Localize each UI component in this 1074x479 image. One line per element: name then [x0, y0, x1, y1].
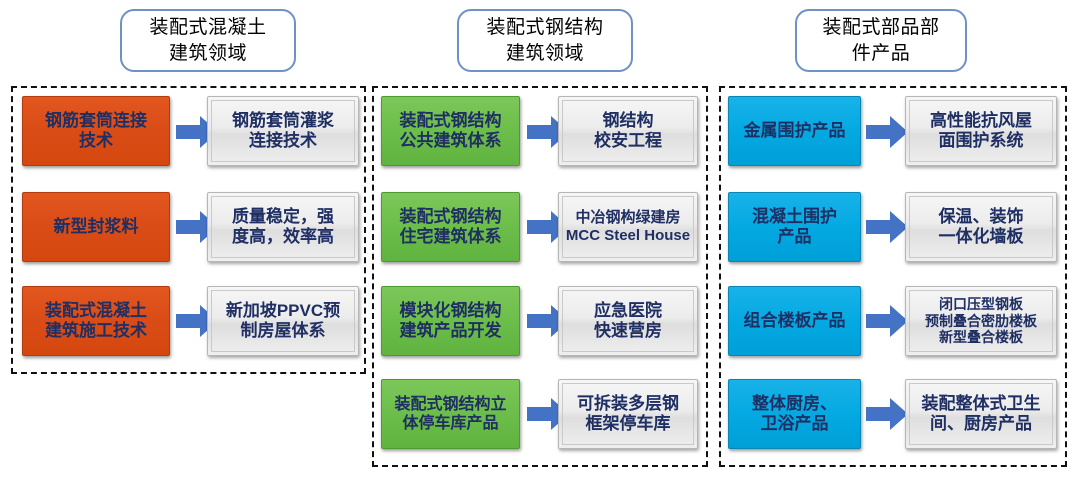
target-node-c3r3[interactable]: 闭口压型钢板 预制叠合密肋楼板 新型叠合楼板 — [905, 286, 1057, 356]
source-node-c3r2[interactable]: 混凝土围护 产品 — [728, 192, 861, 262]
source-node-c3r1[interactable]: 金属围护产品 — [728, 96, 861, 166]
node-line: 卫浴产品 — [761, 414, 829, 434]
node-line: 保温、装饰 — [939, 207, 1024, 227]
node-line: 装配式钢结构 — [400, 111, 502, 131]
node-line: 组合楼板产品 — [744, 311, 846, 331]
target-node-c3r2[interactable]: 保温、装饰 一体化墙板 — [905, 192, 1057, 262]
node-line: 建筑施工技术 — [45, 321, 147, 341]
target-node-c3r1[interactable]: 高性能抗风屋 面围护系统 — [905, 96, 1057, 166]
node-line: 预制叠合密肋楼板 — [925, 313, 1037, 330]
node-line: 可拆装多层钢 — [577, 394, 679, 414]
column-header-precast-concrete: 装配式混凝土 建筑领域 — [120, 9, 296, 72]
node-line: 混凝土围护 — [752, 207, 837, 227]
node-line: 中冶钢构绿建房 — [575, 209, 680, 227]
node-line: 快速营房 — [594, 321, 662, 341]
target-node-c3r4[interactable]: 装配整体式卫生 间、厨房产品 — [905, 379, 1057, 449]
column-header-prefab-components: 装配式部品部 件产品 — [795, 9, 967, 72]
column-header-line: 建筑领域 — [169, 41, 247, 66]
column-header-steel-structure: 装配式钢结构 建筑领域 — [457, 9, 633, 72]
target-node-c2r1[interactable]: 钢结构 校安工程 — [558, 96, 698, 166]
node-line: 连接技术 — [249, 131, 317, 151]
node-line: 高性能抗风屋 — [930, 111, 1032, 131]
node-line: 技术 — [79, 131, 113, 151]
node-line: 公共建筑体系 — [400, 131, 502, 151]
target-node-c2r2[interactable]: 中冶钢构绿建房 MCC Steel House — [558, 192, 698, 262]
arrow-c3r3 — [866, 305, 908, 337]
node-line: 金属围护产品 — [744, 121, 846, 141]
diagram-canvas: 装配式混凝土 建筑领域 装配式钢结构 建筑领域 装配式部品部 件产品 钢筋套筒连… — [0, 0, 1074, 479]
node-line: 装配式钢结构 — [400, 207, 502, 227]
source-node-c1r2[interactable]: 新型封浆料 — [22, 192, 170, 262]
node-line: 一体化墙板 — [939, 227, 1024, 247]
node-line: 质量稳定，强 — [232, 207, 334, 227]
target-node-c1r3[interactable]: 新加坡PPVC预 制房屋体系 — [207, 286, 359, 356]
node-line: 闭口压型钢板 — [939, 296, 1023, 313]
source-node-c3r3[interactable]: 组合楼板产品 — [728, 286, 861, 356]
node-line: 模块化钢结构 — [400, 301, 502, 321]
node-line: 应急医院 — [594, 301, 662, 321]
node-line: 钢筋套筒连接 — [45, 111, 147, 131]
column-header-line: 装配式钢结构 — [486, 15, 603, 40]
node-line: 间、厨房产品 — [930, 414, 1032, 434]
target-node-c1r1[interactable]: 钢筋套筒灌浆 连接技术 — [207, 96, 359, 166]
node-line: 住宅建筑体系 — [400, 227, 502, 247]
node-line: 度高，效率高 — [232, 227, 334, 247]
node-line: 新型叠合楼板 — [939, 329, 1023, 346]
arrow-c3r4 — [866, 398, 908, 430]
node-line: 装配式钢结构立 — [394, 395, 506, 414]
arrow-c3r2 — [866, 211, 908, 243]
node-line: 装配整体式卫生 — [922, 394, 1041, 414]
node-line: 整体厨房、 — [752, 394, 837, 414]
node-line: 框架停车库 — [586, 414, 671, 434]
node-line: 装配式混凝土 — [45, 301, 147, 321]
node-line: 校安工程 — [594, 131, 662, 151]
column-header-line: 装配式混凝土 — [149, 15, 266, 40]
target-node-c2r4[interactable]: 可拆装多层钢 框架停车库 — [558, 379, 698, 449]
node-line: 新加坡PPVC预 — [226, 301, 340, 321]
node-line: 面围护系统 — [939, 131, 1024, 151]
source-node-c2r3[interactable]: 模块化钢结构 建筑产品开发 — [381, 286, 520, 356]
source-node-c3r4[interactable]: 整体厨房、 卫浴产品 — [728, 379, 861, 449]
source-node-c2r4[interactable]: 装配式钢结构立 体停车库产品 — [381, 379, 520, 449]
target-node-c1r2[interactable]: 质量稳定，强 度高，效率高 — [207, 192, 359, 262]
node-line: 体停车库产品 — [402, 414, 498, 433]
node-line: 钢结构 — [603, 111, 654, 131]
source-node-c2r2[interactable]: 装配式钢结构 住宅建筑体系 — [381, 192, 520, 262]
column-header-line: 件产品 — [852, 41, 911, 66]
column-header-line: 建筑领域 — [506, 41, 584, 66]
node-line: 钢筋套筒灌浆 — [232, 111, 334, 131]
arrow-c3r1 — [866, 116, 908, 148]
node-line: 制房屋体系 — [241, 321, 326, 341]
node-line: 新型封浆料 — [54, 217, 139, 237]
source-node-c1r1[interactable]: 钢筋套筒连接 技术 — [22, 96, 170, 166]
node-line: 建筑产品开发 — [400, 321, 502, 341]
column-header-line: 装配式部品部 — [822, 15, 939, 40]
source-node-c1r3[interactable]: 装配式混凝土 建筑施工技术 — [22, 286, 170, 356]
node-line: 产品 — [778, 227, 812, 247]
node-line: MCC Steel House — [566, 227, 690, 245]
target-node-c2r3[interactable]: 应急医院 快速营房 — [558, 286, 698, 356]
source-node-c2r1[interactable]: 装配式钢结构 公共建筑体系 — [381, 96, 520, 166]
